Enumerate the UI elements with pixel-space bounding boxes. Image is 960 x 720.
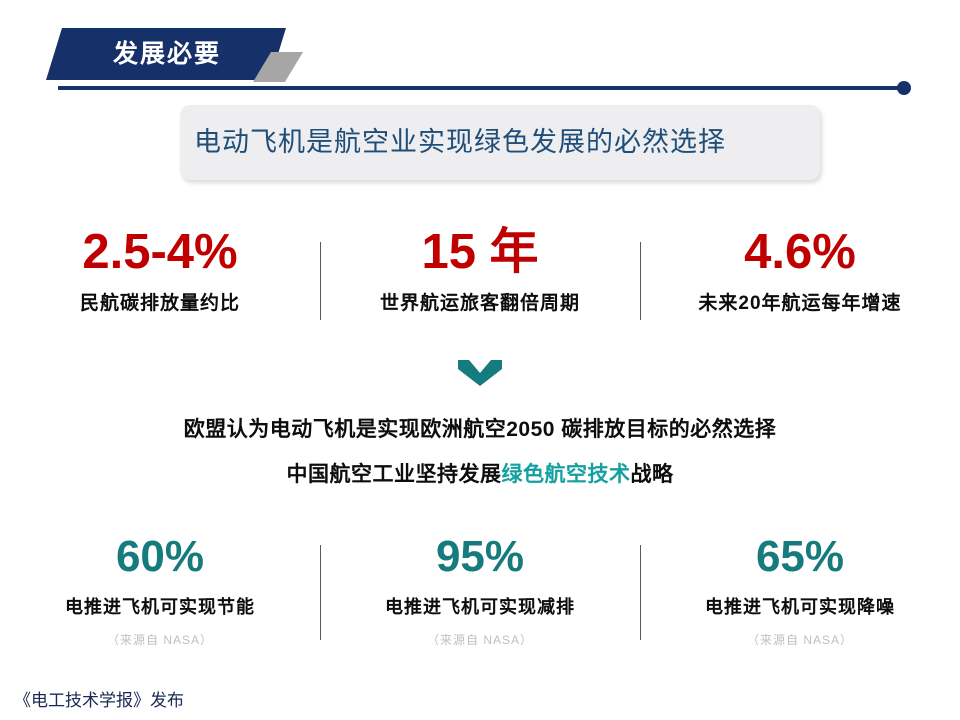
section-banner-title: 发展必要	[111, 42, 221, 67]
conclusion-prefix: 中国航空工业坚持发展	[287, 463, 502, 486]
stat-source: （来源自 NASA）	[0, 631, 320, 648]
stat-value: 65%	[640, 535, 960, 579]
slide-header: 发展必要	[0, 0, 960, 110]
chevron-down-icon	[458, 360, 502, 386]
conclusion-line-china: 中国航空工业坚持发展绿色航空技术战略	[0, 463, 960, 486]
footer-publisher: 《电工技术学报》发布	[14, 692, 184, 709]
subtitle-text: 电动飞机是航空业实现绿色发展的必然选择	[180, 129, 726, 156]
section-banner: 发展必要	[46, 28, 286, 80]
stats-row-bottom: 60% 电推进飞机可实现节能 （来源自 NASA） 95% 电推进飞机可实现减排…	[0, 535, 960, 648]
stat-label: 电推进飞机可实现节能	[0, 597, 320, 619]
stat-source: （来源自 NASA）	[640, 631, 960, 648]
stat-card-carbon-share: 2.5-4% 民航碳排放量约比	[0, 228, 320, 316]
header-end-dot	[897, 81, 911, 95]
stat-value: 15 年	[320, 228, 640, 277]
stat-card-annual-growth: 4.6% 未来20年航运每年增速	[640, 228, 960, 316]
conclusion-highlight: 绿色航空技术	[502, 463, 631, 486]
stat-label: 电推进飞机可实现降噪	[640, 597, 960, 619]
conclusion-suffix: 战略	[631, 463, 674, 486]
stat-card-doubling-period: 15 年 世界航运旅客翻倍周期	[320, 228, 640, 316]
chevron-divider	[0, 360, 960, 386]
conclusion-line-eu: 欧盟认为电动飞机是实现欧洲航空2050 碳排放目标的必然选择	[0, 418, 960, 441]
stat-value: 4.6%	[640, 228, 960, 277]
stat-card-emission-reduction: 95% 电推进飞机可实现减排 （来源自 NASA）	[320, 535, 640, 648]
stat-label: 电推进飞机可实现减排	[320, 597, 640, 619]
stat-source: （来源自 NASA）	[320, 631, 640, 648]
stat-label: 未来20年航运每年增速	[640, 293, 960, 316]
stat-card-energy-saving: 60% 电推进飞机可实现节能 （来源自 NASA）	[0, 535, 320, 648]
subtitle-callout-box: 电动飞机是航空业实现绿色发展的必然选择	[180, 105, 820, 180]
stat-value: 95%	[320, 535, 640, 579]
stat-value: 60%	[0, 535, 320, 579]
conclusion-block: 欧盟认为电动飞机是实现欧洲航空2050 碳排放目标的必然选择 中国航空工业坚持发…	[0, 418, 960, 486]
stat-label: 民航碳排放量约比	[0, 293, 320, 316]
stat-value: 2.5-4%	[0, 228, 320, 277]
stats-row-top: 2.5-4% 民航碳排放量约比 15 年 世界航运旅客翻倍周期 4.6% 未来2…	[0, 228, 960, 316]
stat-label: 世界航运旅客翻倍周期	[320, 293, 640, 316]
stat-card-noise-reduction: 65% 电推进飞机可实现降噪 （来源自 NASA）	[640, 535, 960, 648]
header-divider-line	[58, 86, 902, 90]
slide-canvas: 发展必要 电动飞机是航空业实现绿色发展的必然选择 2.5-4% 民航碳排放量约比…	[0, 0, 960, 720]
